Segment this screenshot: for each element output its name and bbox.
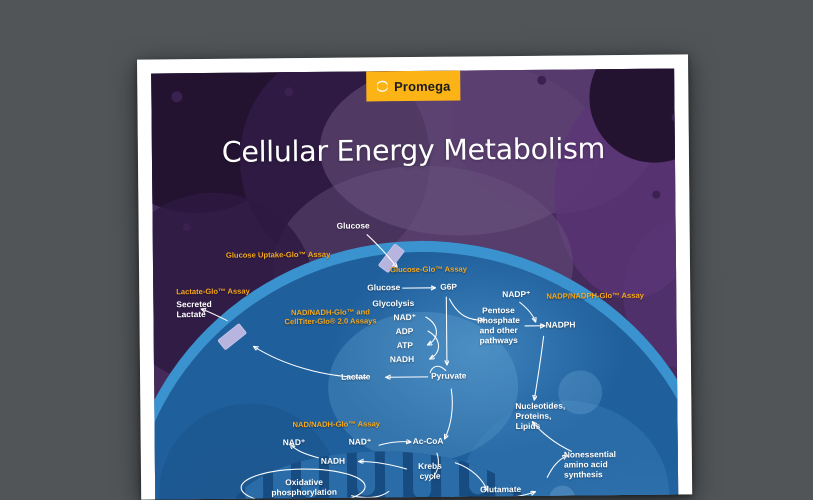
label-nad-plus-mito-left: NAD⁺ bbox=[283, 438, 306, 448]
assay-lactate-glo: Lactate-Glo™ Assay bbox=[176, 287, 250, 297]
label-oxidative-phosphorylation: Oxidative phosphorylation bbox=[253, 478, 355, 499]
label-atp: ATP bbox=[397, 341, 413, 351]
label-nadp-plus: NADP⁺ bbox=[502, 290, 530, 300]
poster-white-border: Promega Cellular Energy Metabolism bbox=[137, 54, 692, 499]
label-nadph: NADPH bbox=[546, 320, 576, 330]
label-glutamate: Glutamate bbox=[480, 485, 521, 495]
label-nad-plus-mito-right: NAD⁺ bbox=[349, 437, 372, 447]
assay-nad-nadh-glo: NAD/NADH-Glo™ Assay bbox=[292, 419, 380, 429]
assay-nadp-nadph-glo: NADP/NADPH-Glo™ Assay bbox=[546, 291, 644, 301]
promega-logo: Promega bbox=[366, 71, 460, 102]
label-nadh-glycolysis: NADH bbox=[390, 355, 414, 365]
label-akg: αKG bbox=[437, 496, 455, 500]
label-lactate: Lactate bbox=[341, 372, 370, 382]
label-glucose-intracellular: Glucose bbox=[367, 283, 400, 293]
label-nad-plus-glycolysis: NAD⁺ bbox=[393, 313, 416, 323]
poster-artwork: Promega Cellular Energy Metabolism bbox=[151, 68, 678, 499]
promega-swirl-icon bbox=[375, 79, 389, 93]
assay-nad-nadh-celltiter: NAD/NADH-Glo™ and CellTiter-Glo® 2.0 Ass… bbox=[266, 307, 394, 327]
label-ac-coa: Ac-CoA bbox=[413, 437, 444, 447]
label-nonessential-amino-acid-synthesis: Nonessential amino acid synthesis bbox=[564, 450, 616, 480]
assay-glucose-glo: Glucose-Glo™ Assay bbox=[390, 264, 467, 274]
label-adp: ADP bbox=[396, 327, 414, 337]
label-nucleotides-proteins-lipids: Nucleotides, Proteins, Lipids bbox=[515, 402, 565, 432]
promega-wordmark: Promega bbox=[394, 79, 450, 93]
label-glucose-extracellular: Glucose bbox=[337, 221, 370, 231]
label-krebs-cycle: Krebs cycle bbox=[410, 462, 450, 482]
label-nadh-mito: NADH bbox=[321, 457, 345, 467]
label-pyruvate: Pyruvate bbox=[431, 371, 466, 381]
poster-card: Promega Cellular Energy Metabolism bbox=[137, 54, 692, 499]
label-pentose-phosphate: Pentose Phosphate and other pathways bbox=[473, 306, 523, 346]
label-secreted-lactate: Secreted Lactate bbox=[176, 300, 212, 320]
page-title: Cellular Energy Metabolism bbox=[152, 131, 675, 169]
label-g6p: G6P bbox=[440, 283, 457, 293]
assay-glucose-uptake-glo: Glucose Uptake-Glo™ Assay bbox=[226, 250, 330, 260]
